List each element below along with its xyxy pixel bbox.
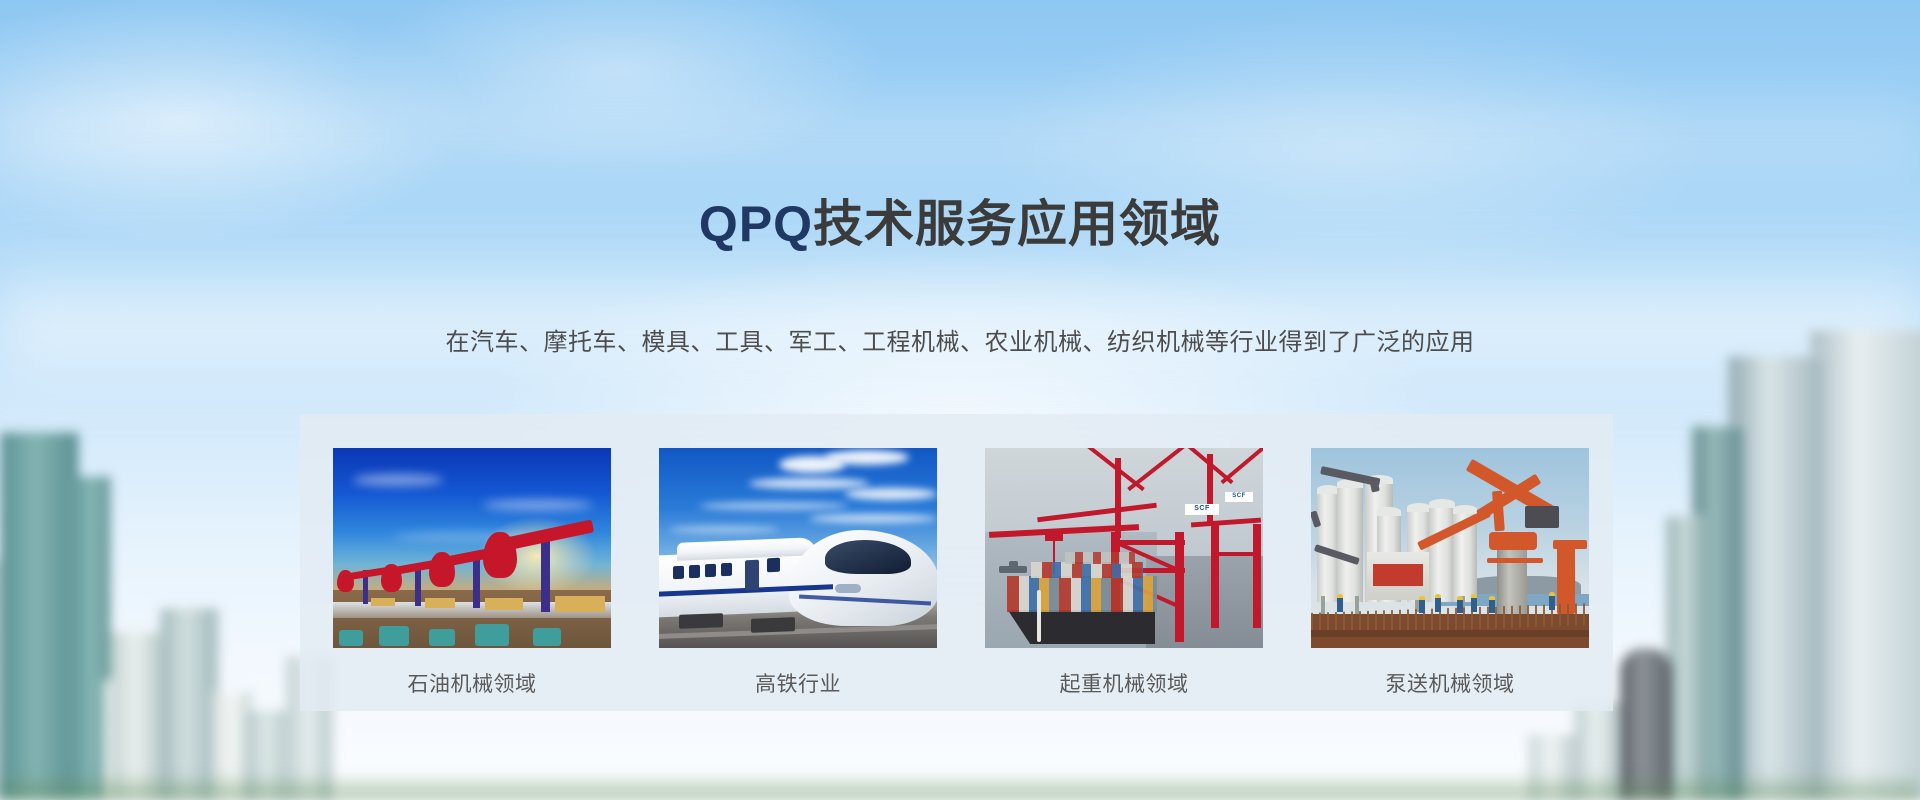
silo-support <box>1321 596 1325 614</box>
page-subtitle: 在汽车、摩托车、模具、工具、军工、工程机械、农业机械、纺织机械等行业得到了广泛的… <box>0 322 1920 357</box>
oil-pumpjacks-photo[interactable] <box>333 448 611 648</box>
pump-platform <box>1487 558 1543 563</box>
pump-base <box>1489 532 1537 550</box>
container-stack <box>1031 562 1143 578</box>
high-speed-train-photo[interactable] <box>659 448 937 648</box>
page-title: QPQ技术服务应用领域 <box>0 194 1920 254</box>
application-card[interactable]: 高铁行业 <box>659 448 937 698</box>
train-window <box>689 565 700 578</box>
container-stack <box>1007 576 1157 612</box>
scf-logo-label: SCF <box>1225 492 1253 502</box>
cloud <box>353 474 443 486</box>
train-bogie <box>751 617 795 633</box>
card-caption: 高铁行业 <box>659 668 937 698</box>
train-window <box>673 566 684 579</box>
page-title-main: 技术服务应用领域 <box>813 196 1221 252</box>
card-caption: 泵送机械领域 <box>1311 668 1589 698</box>
cloud <box>483 500 593 510</box>
pumpjack <box>483 520 607 612</box>
page-title-prefix: QPQ <box>699 196 813 252</box>
train-door <box>745 560 759 591</box>
concrete-pump-site-photo[interactable] <box>1311 448 1589 648</box>
worker <box>1549 596 1555 610</box>
train-headlight <box>835 584 861 593</box>
cloud <box>749 478 869 489</box>
worker <box>1471 598 1477 612</box>
card-caption: 起重机械领域 <box>985 668 1263 698</box>
worker <box>1435 598 1441 612</box>
application-card[interactable]: 石油机械领域 <box>333 448 611 698</box>
worker <box>1457 600 1463 613</box>
cloud <box>809 514 937 523</box>
cement-silo <box>1429 506 1455 602</box>
wellhead-equipment <box>533 628 561 646</box>
cloud <box>699 502 849 510</box>
worker <box>1337 598 1343 612</box>
counterweight-box <box>1525 506 1559 528</box>
cloud <box>669 526 779 533</box>
worker <box>1489 600 1495 613</box>
train-bogie <box>679 613 723 629</box>
card-caption: 石油机械领域 <box>333 668 611 698</box>
application-card[interactable]: SCF SCF 起重机械领域 <box>985 448 1263 698</box>
train-window <box>705 564 716 577</box>
wellhead-equipment <box>339 630 363 646</box>
ship-mast <box>1037 590 1041 642</box>
cement-silo <box>1337 486 1363 602</box>
site-banner <box>1373 564 1423 586</box>
wellhead-equipment <box>429 629 455 646</box>
worker <box>1419 600 1425 613</box>
wellhead-equipment <box>475 624 509 646</box>
port-gantry-cranes-photo[interactable]: SCF SCF <box>985 448 1263 648</box>
application-card-list: 石油机械领域 <box>333 448 1589 698</box>
pump-arm-right <box>1553 540 1587 549</box>
train-window <box>767 558 780 573</box>
container-stack <box>1065 552 1135 564</box>
wellhead-equipment <box>379 626 409 646</box>
scf-logo-label: SCF <box>1185 504 1219 515</box>
train-window <box>721 563 732 576</box>
cloud <box>845 488 937 500</box>
cloud <box>825 450 909 465</box>
hero-content: QPQ技术服务应用领域 在汽车、摩托车、模具、工具、军工、工程机械、农业机械、纺… <box>0 0 1920 800</box>
application-card[interactable]: 泵送机械领域 <box>1311 448 1589 698</box>
deck-edge <box>1311 630 1589 637</box>
